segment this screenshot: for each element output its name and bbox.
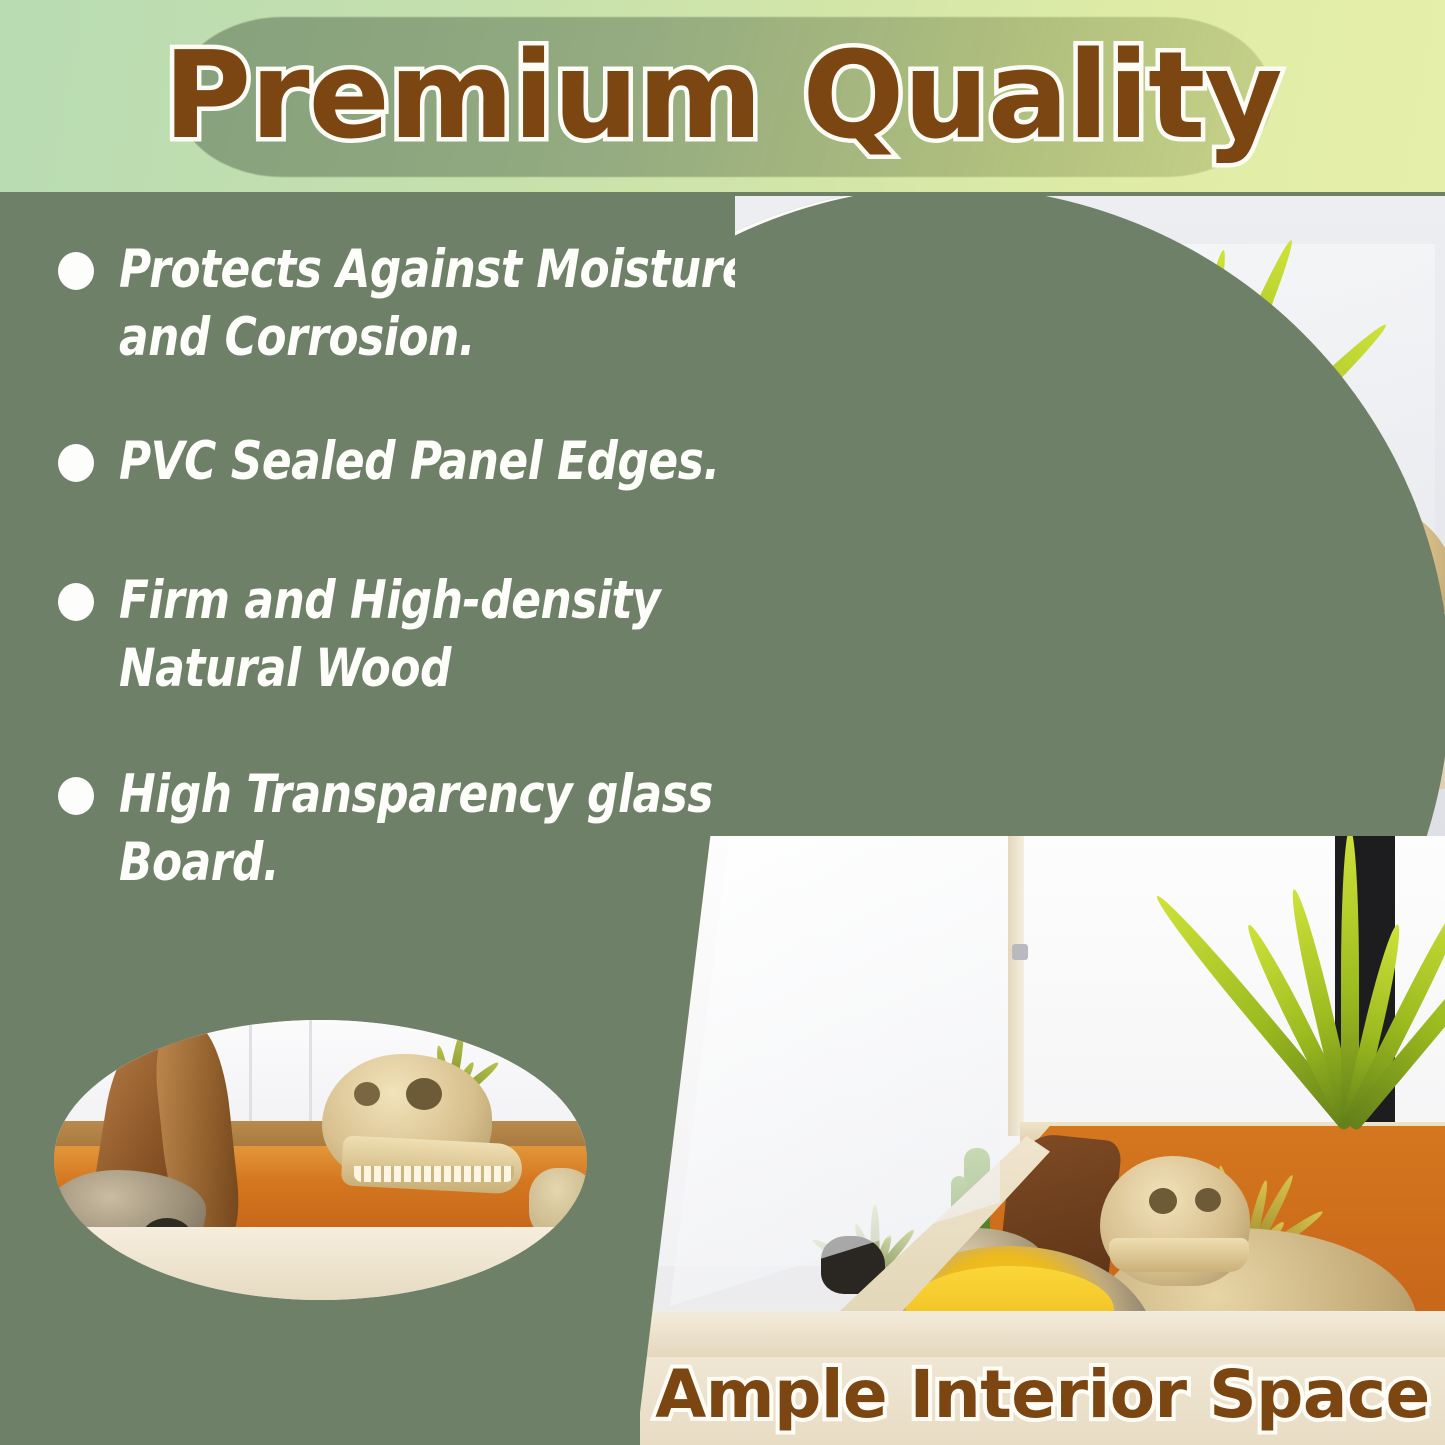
skull-eye-socket [406,1078,442,1110]
bullet-dot-icon [58,777,94,815]
skull-jaw [341,1135,523,1194]
list-item: Firm and High-density Natural Wood [58,567,818,703]
bullet-dot-icon [58,583,94,621]
feature-label: Firm and High-density Natural Wood [119,567,762,703]
skull-eye-socket [354,1082,380,1106]
list-item: Protects Against Moisture and Corrosion. [58,236,818,372]
wood-base-rail [640,1311,1445,1359]
list-item: PVC Sealed Panel Edges. [58,428,818,496]
skull-teeth [354,1166,514,1182]
terrarium-exterior-photo [735,196,1445,836]
feature-label: PVC Sealed Panel Edges. [119,428,720,496]
header-band: Premium Quality [0,0,1445,192]
skull-eye-socket [1195,1188,1221,1212]
wood-corner-post [1008,836,1024,1136]
terrarium-interior-photo [640,836,1445,1445]
page-title: Premium Quality [0,34,1445,160]
bullet-dot-icon [58,252,94,290]
terrarium-decor-closeup-photo [54,1020,587,1300]
bottom-caption: Ample Interior Space [640,1356,1445,1433]
fern-plant-decor [1245,836,1445,1126]
infographic-canvas: Premium Quality Protects Against Moistur… [0,0,1445,1445]
hinge-knob [1012,944,1028,960]
skull-eye-socket [1149,1188,1177,1214]
bullet-dot-icon [58,444,94,482]
skull-jaw [1109,1238,1249,1272]
feature-label: Protects Against Moisture and Corrosion. [119,236,762,372]
wood-base-front [54,1227,587,1300]
